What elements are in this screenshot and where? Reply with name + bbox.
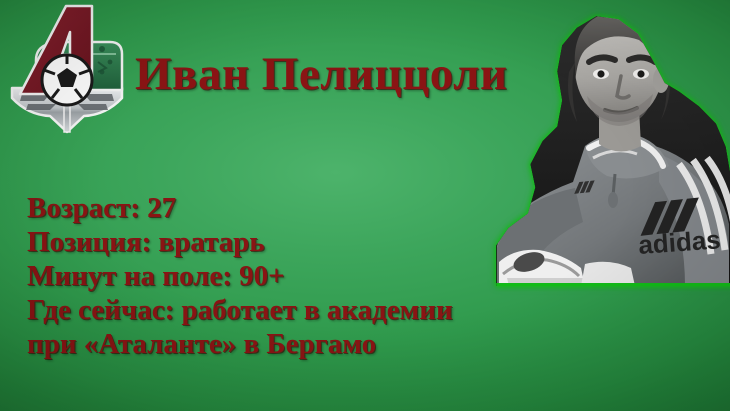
info-line-age: Возраст: 27 [27, 191, 547, 225]
player-photo-glow: adidas [489, 0, 730, 286]
svg-text:adidas: adidas [637, 224, 721, 260]
info-line-position: Позиция: вратарь [27, 225, 547, 259]
info-line-current-2: при «Аталанте» в Бергамо [27, 327, 547, 361]
player-photo-cutout: adidas [489, 0, 730, 286]
lokomotiv-moscow-crest-icon [6, 2, 128, 136]
crest-football-icon [42, 55, 92, 105]
info-line-minutes: Минут на поле: 90+ [27, 259, 547, 293]
player-photo-image: adidas [489, 0, 730, 286]
info-line-current-1: Где сейчас: работает в академии [27, 293, 547, 327]
player-name-title: Иван Пелиццоли [135, 47, 508, 101]
player-info-card: Иван Пелиццоли Возраст: 27 Позиция: врат… [0, 0, 730, 411]
player-info-block: Возраст: 27 Позиция: вратарь Минут на по… [27, 191, 547, 361]
